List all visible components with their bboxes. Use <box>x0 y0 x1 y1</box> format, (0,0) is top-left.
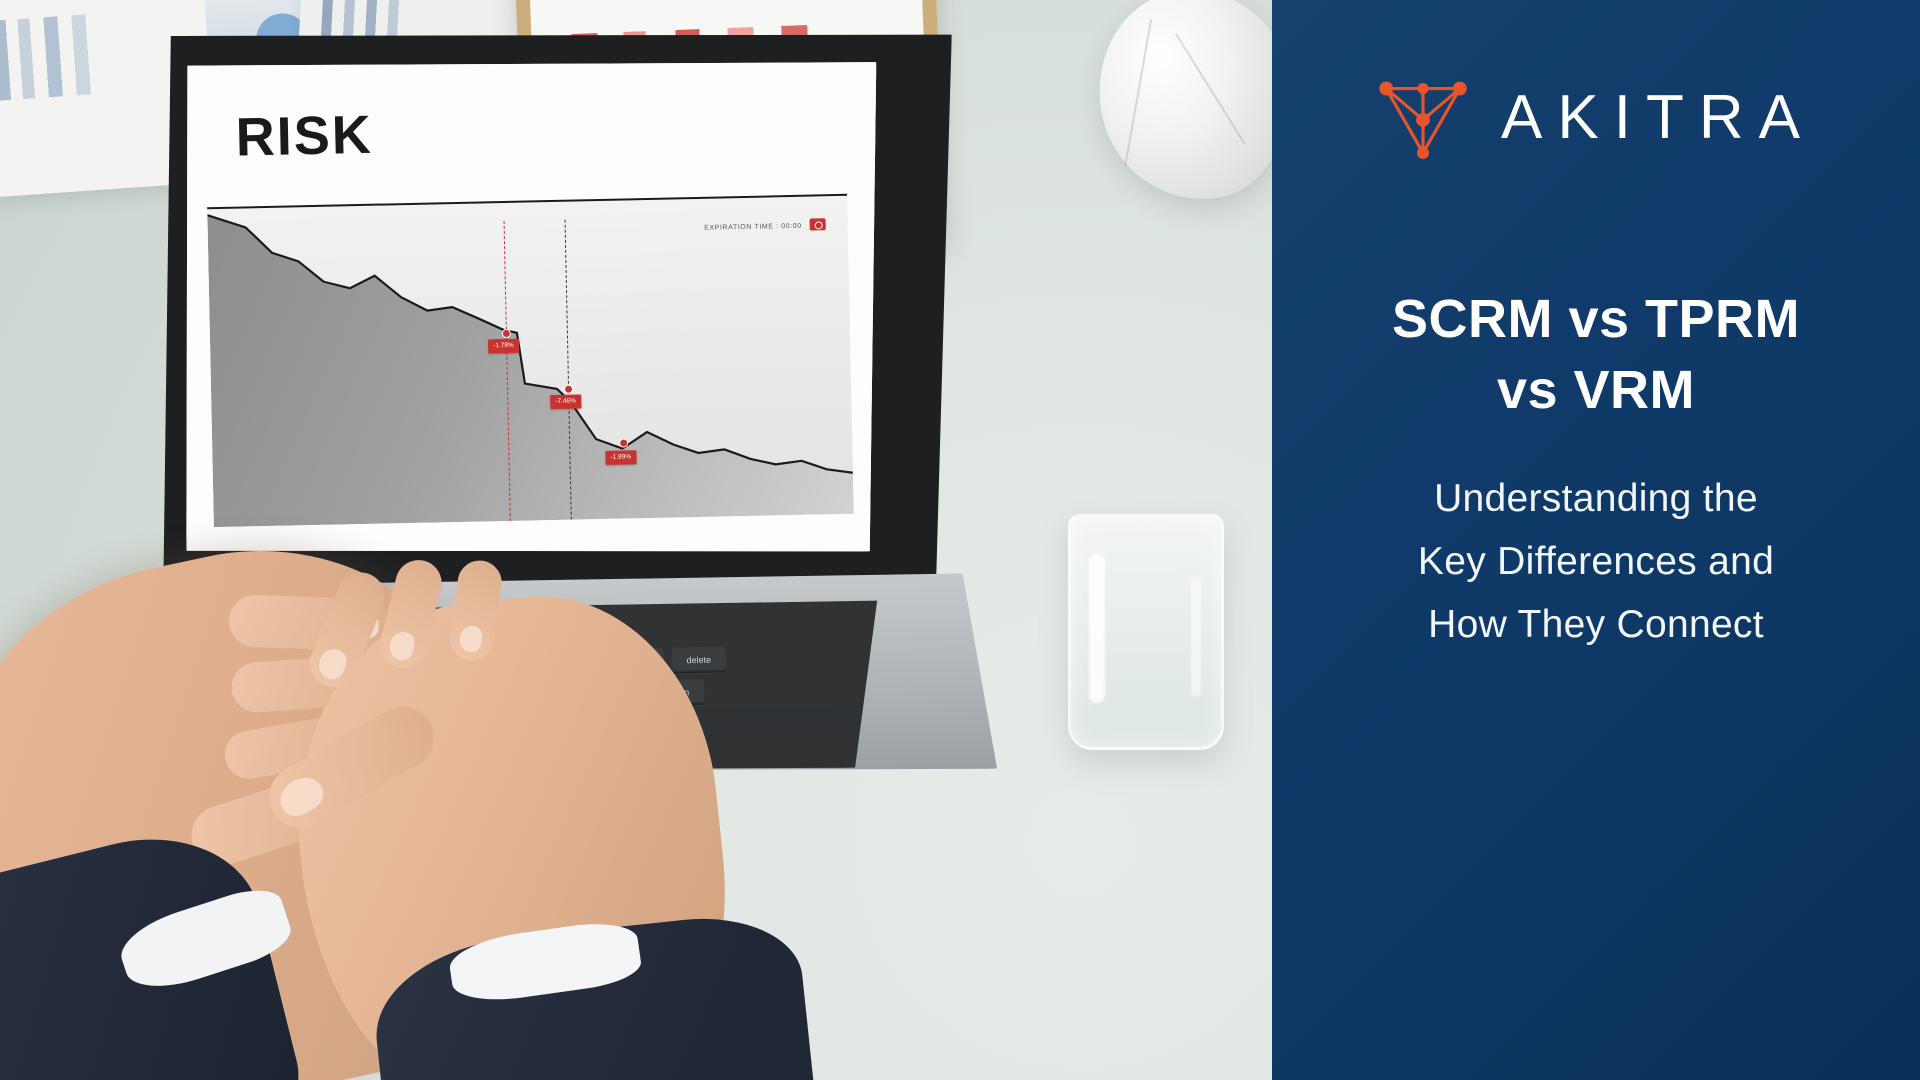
right-middle-nail <box>387 629 417 662</box>
key-delete[interactable]: delete <box>671 646 728 673</box>
screen-content: RISK EXPIRATION TIME : 00:00 -1.78% <box>176 51 886 566</box>
brand-wordmark: AKITRA <box>1495 87 1815 149</box>
chart-tag-3: -1.89% <box>605 450 636 465</box>
chart-line-path <box>207 196 854 527</box>
laptop-screen: RISK EXPIRATION TIME : 00:00 -1.78% <box>176 51 886 566</box>
page-title: SCRM vs TPRM vs VRM <box>1392 284 1800 427</box>
desk-water-glass <box>1068 514 1224 750</box>
title-panel: AKITRA SCRM vs TPRM vs VRM Understanding… <box>1272 0 1920 1080</box>
headline-line-1: SCRM vs TPRM <box>1392 284 1800 355</box>
subhead-line-3: How They Connect <box>1418 593 1774 656</box>
page-subtitle: Understanding the Key Differences and Ho… <box>1418 467 1774 657</box>
headline-line-2: vs VRM <box>1392 355 1800 426</box>
right-index-nail <box>315 645 350 683</box>
chart-tag-1: -1.78% <box>488 339 519 354</box>
risk-area-chart: EXPIRATION TIME : 00:00 -1.78% -7.46% -1… <box>207 194 854 527</box>
brand-lockup[interactable]: AKITRA <box>1324 72 1868 164</box>
target-marker-icon <box>810 218 826 230</box>
blog-banner: RISK EXPIRATION TIME : 00:00 -1.78% <box>0 0 1920 1080</box>
chart-tag-2: -7.46% <box>550 394 581 409</box>
screen-title: RISK <box>235 104 373 169</box>
akitra-logo-icon <box>1377 72 1469 164</box>
right-thumb-nail <box>274 770 329 821</box>
hero-photo: RISK EXPIRATION TIME : 00:00 -1.78% <box>0 0 1272 1080</box>
subhead-line-1: Understanding the <box>1418 467 1774 530</box>
right-ring-nail <box>458 624 483 653</box>
subhead-line-2: Key Differences and <box>1418 530 1774 593</box>
